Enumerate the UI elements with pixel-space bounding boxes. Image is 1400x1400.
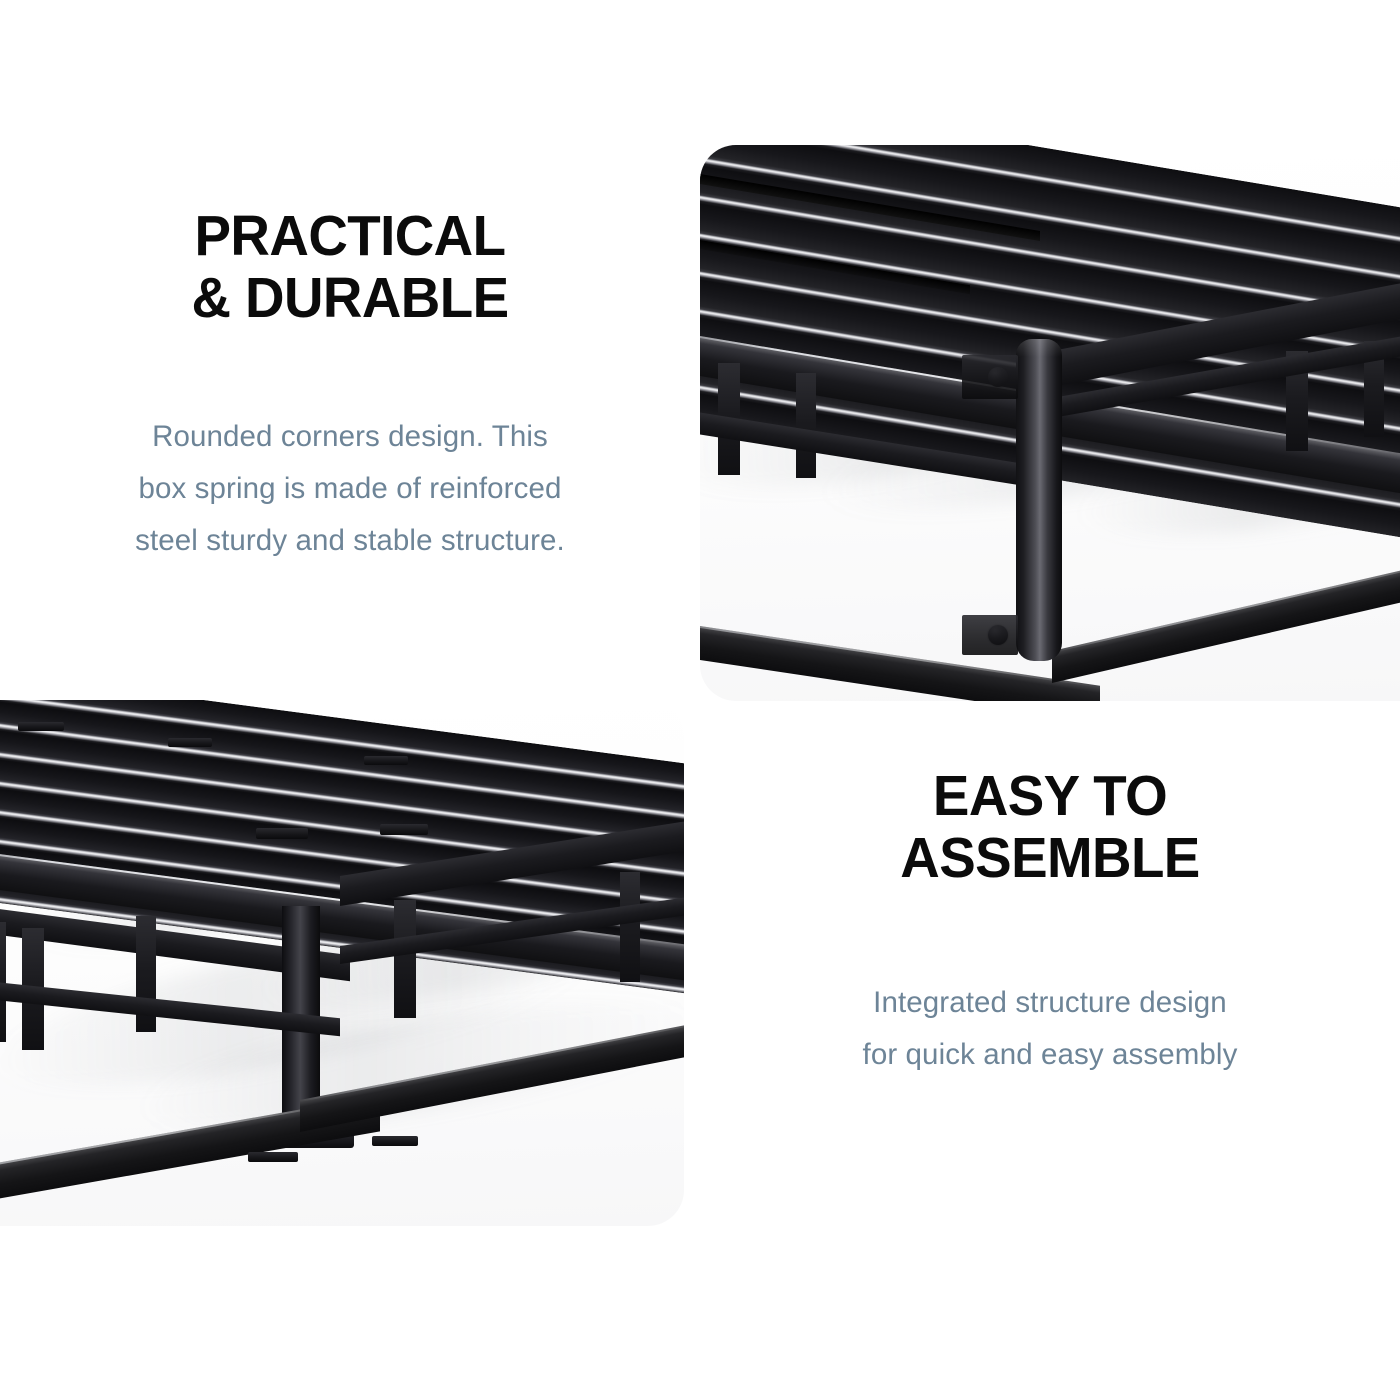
slat-clip — [18, 722, 64, 731]
slat-clip — [248, 1152, 298, 1162]
body-line: steel sturdy and stable structure. — [28, 515, 672, 567]
post-top-cap — [1016, 339, 1062, 357]
body-line: Integrated structure design — [728, 977, 1372, 1029]
infographic-canvas: PRACTICAL & DURABLE Rounded corners desi… — [0, 0, 1400, 1400]
rounded-corner-post — [1016, 339, 1062, 661]
feature-description-easy-to-assemble: Integrated structure design for quick an… — [728, 977, 1372, 1081]
slat-clip — [380, 824, 428, 835]
headline-line: EASY TO — [741, 765, 1359, 827]
page-title-practical-durable: PRACTICAL & DURABLE — [41, 205, 659, 329]
body-line: Rounded corners design. This — [28, 411, 672, 463]
product-photo-full-frame — [0, 700, 684, 1226]
headline-line: ASSEMBLE — [741, 827, 1359, 889]
body-line: for quick and easy assembly — [728, 1029, 1372, 1081]
frame-leg-rear — [796, 373, 816, 478]
headline-line: & DURABLE — [41, 267, 659, 329]
feature-description-practical-durable: Rounded corners design. This box spring … — [28, 411, 672, 567]
headline-line: PRACTICAL — [41, 205, 659, 267]
photo-background — [0, 700, 684, 1226]
frame-lower-rail-front-right — [1052, 552, 1400, 683]
joint-bracket — [962, 355, 1018, 399]
frame-leg — [394, 900, 416, 1018]
product-photo-corner-detail — [700, 145, 1400, 701]
body-line: box spring is made of reinforced — [28, 463, 672, 515]
page-title-easy-to-assemble: EASY TO ASSEMBLE — [741, 765, 1359, 889]
feature-practical-durable: PRACTICAL & DURABLE Rounded corners desi… — [28, 205, 672, 567]
slat-clip — [256, 828, 308, 839]
frame-leg — [620, 872, 640, 982]
joint-bracket — [962, 615, 1018, 655]
photo-background — [700, 145, 1400, 701]
slat-clip — [372, 1136, 418, 1146]
slat-clip — [168, 738, 212, 747]
feature-easy-to-assemble: EASY TO ASSEMBLE Integrated structure de… — [728, 765, 1372, 1081]
slat-clip — [364, 756, 408, 765]
